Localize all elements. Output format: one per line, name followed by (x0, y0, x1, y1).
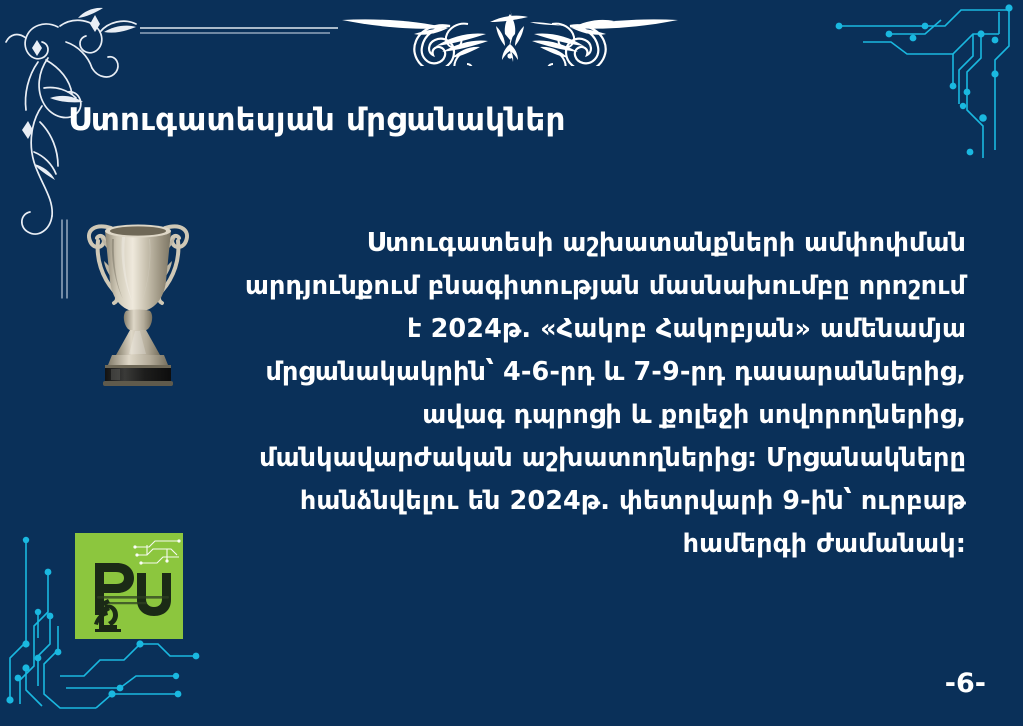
presentation-slide: Ստուգատեսյան մրցանակներ (0, 0, 1023, 726)
circuit-pattern-icon (833, 0, 1023, 160)
page-number: -6- (945, 668, 986, 699)
body-paragraph: Ստուգատեսի աշխատանքների ամփոփման արդյուն… (228, 222, 966, 566)
header-rule (140, 24, 360, 38)
trophy-image (78, 203, 198, 388)
ornament-flourish-icon (340, 4, 680, 66)
page-title: Ստուգատեսյան մրցանակներ (68, 102, 566, 138)
organisation-logo (75, 533, 183, 639)
